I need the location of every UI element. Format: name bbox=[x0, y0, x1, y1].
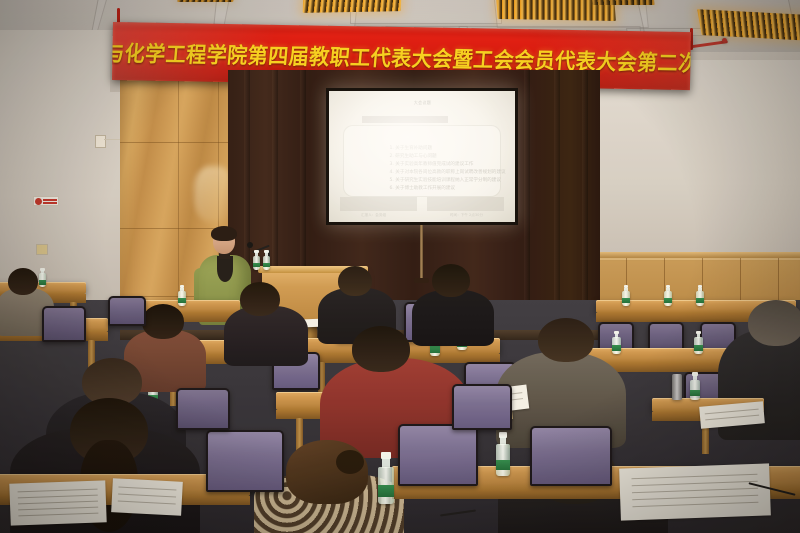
chair[interactable] bbox=[398, 424, 478, 486]
right-wall bbox=[590, 60, 800, 265]
audience-person-head bbox=[748, 300, 800, 346]
ceiling-light-fixture bbox=[591, 0, 654, 5]
audience-person-hair-bun bbox=[336, 450, 364, 474]
no-smoking-sign bbox=[33, 196, 59, 206]
wall-switch[interactable] bbox=[36, 244, 48, 255]
audience-person-head bbox=[8, 268, 38, 295]
chair[interactable] bbox=[530, 426, 612, 486]
wall-junction-box bbox=[95, 135, 106, 148]
screen-pole-base bbox=[414, 278, 429, 283]
audience-person-head bbox=[142, 304, 184, 339]
chair[interactable] bbox=[108, 296, 146, 326]
water-bottle bbox=[39, 268, 46, 287]
audience-person-head bbox=[538, 318, 594, 362]
water-bottle bbox=[378, 452, 394, 504]
audience-person-head bbox=[338, 266, 372, 296]
water-bottle bbox=[622, 285, 630, 306]
document-sheet[interactable] bbox=[111, 478, 183, 516]
water-bottle bbox=[612, 331, 621, 354]
thermos-flask bbox=[672, 374, 682, 400]
sprinkler-head bbox=[722, 38, 727, 43]
projection-screen: 大会议题 1. 关于生育补助问题 2. 研究生助工与心问题 3. 关于实验高年教… bbox=[326, 88, 518, 225]
conference-room-photo: 化学与化学工程学院第四届教职工代表大会暨工会会员代表大会第二次会议 大会议题 1… bbox=[0, 0, 800, 533]
document-sheet[interactable] bbox=[619, 463, 771, 520]
chair[interactable] bbox=[452, 384, 512, 430]
no-smoking-icon bbox=[35, 198, 42, 205]
water-bottle bbox=[253, 250, 260, 270]
water-bottle bbox=[664, 285, 672, 306]
chair[interactable] bbox=[176, 388, 230, 430]
water-bottle bbox=[696, 285, 704, 306]
ceiling-light-fixture bbox=[303, 0, 402, 13]
sign-text-lines bbox=[43, 198, 57, 204]
water-bottle bbox=[694, 331, 703, 354]
ceiling-light-fixture bbox=[177, 0, 235, 2]
microphone-head bbox=[247, 242, 253, 248]
water-bottle bbox=[690, 372, 700, 400]
audience-person-torso bbox=[412, 290, 494, 346]
screen-surface: 大会议题 1. 关于生育补助问题 2. 研究生助工与心问题 3. 关于实验高年教… bbox=[329, 91, 515, 222]
speaker-hair bbox=[211, 226, 237, 241]
chair[interactable] bbox=[206, 430, 284, 492]
water-bottle bbox=[263, 250, 270, 270]
document-sheet[interactable] bbox=[9, 480, 106, 525]
water-bottle bbox=[178, 285, 186, 306]
screen-glare bbox=[329, 91, 515, 222]
screen-support-pole bbox=[420, 225, 423, 281]
audience-person-head bbox=[352, 326, 410, 372]
speaker-collar bbox=[217, 256, 233, 282]
water-bottle bbox=[496, 432, 510, 476]
audience-person-head bbox=[240, 282, 280, 316]
audience-person-head bbox=[432, 264, 470, 297]
chair[interactable] bbox=[42, 306, 86, 342]
